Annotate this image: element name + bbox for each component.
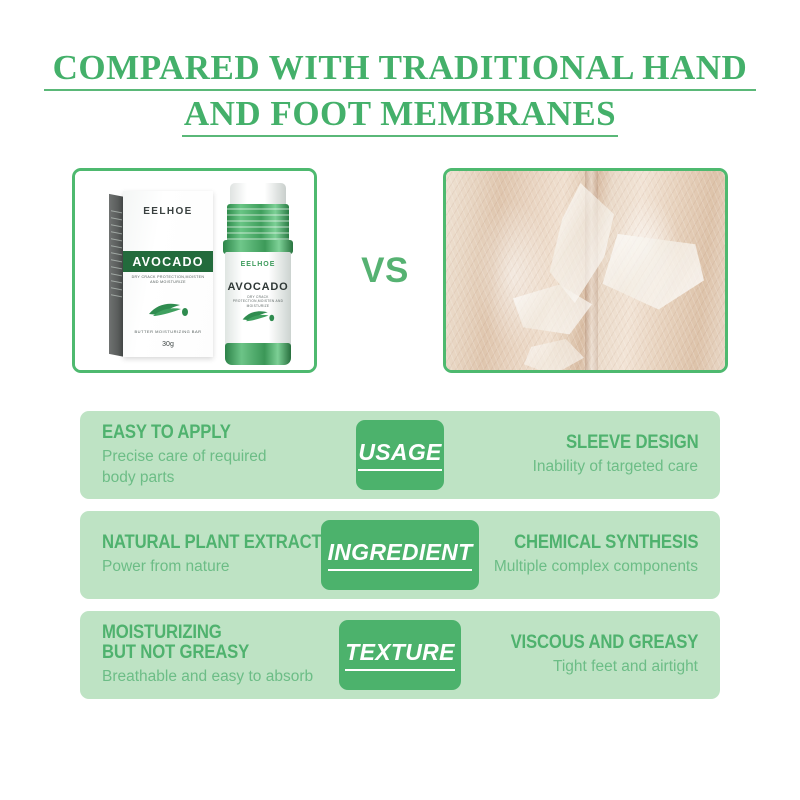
row-left-description: Power from nature [102,556,230,577]
comparison-row-usage: EASY TO APPLY Precise care of required b… [80,411,720,499]
leaf-icon [147,301,189,322]
carton-brand-name: EELHOE [123,206,213,217]
row-left-column: EASY TO APPLY Precise care of required b… [102,411,352,499]
row-badge-label: USAGE [358,439,441,471]
row-left-column: NATURAL PLANT EXTRACT Power from nature [102,511,352,599]
carton-product-band: AVOCADO [123,251,213,272]
stick-base [225,343,291,365]
carton-front-panel: EELHOE AVOCADO DRY CRACK PROTECTION,MOIS… [123,191,213,357]
row-left-column: MOISTURIZING BUT NOT GREASY Breathable a… [102,611,352,699]
carton-tagline: BUTTER MOISTURIZING BAR [123,329,213,334]
comparison-image-strip: EELHOE AVOCADO DRY CRACK PROTECTION,MOIS… [0,168,800,373]
row-right-description: Multiple complex components [494,556,698,577]
product-stick: EELHOE AVOCADO DRY CRACK PROTECTION,MOIS… [221,183,295,365]
vs-label: VS [330,168,440,373]
foot-membrane-image-frame [443,168,728,373]
product-image-frame: EELHOE AVOCADO DRY CRACK PROTECTION,MOIS… [72,168,317,373]
row-badge-usage: USAGE [356,420,444,490]
carton-subtitle: DRY CRACK PROTECTION,MOISTEN AND MOISTUR… [129,275,207,285]
comparison-row-texture: MOISTURIZING BUT NOT GREASY Breathable a… [80,611,720,699]
page-title: COMPARED WITH TRADITIONAL HAND AND FOOT … [0,48,800,137]
carton-side-text-lines [111,210,122,332]
row-right-column: CHEMICAL SYNTHESIS Multiple complex comp… [438,511,698,599]
page-title-line-2: AND FOOT MEMBRANES [182,94,618,137]
row-right-heading: SLEEVE DESIGN [566,433,698,453]
row-right-description: Tight feet and airtight [553,656,698,677]
row-left-heading: MOISTURIZING BUT NOT GREASY [102,623,249,663]
carton-product-name: AVOCADO [132,255,203,269]
infographic-page: COMPARED WITH TRADITIONAL HAND AND FOOT … [0,0,800,800]
product-photo: EELHOE AVOCADO DRY CRACK PROTECTION,MOIS… [75,171,314,370]
row-right-heading: VISCOUS AND GREASY [510,633,698,653]
row-left-heading: NATURAL PLANT EXTRACT [102,533,322,553]
comparison-rows: EASY TO APPLY Precise care of required b… [80,411,720,711]
stick-product-name: AVOCADO [221,281,295,293]
leaf-icon [241,309,275,327]
foot-membrane-photo [446,171,725,370]
row-right-heading: CHEMICAL SYNTHESIS [514,533,698,553]
row-left-description: Breathable and easy to absorb [102,666,313,687]
carton-net-weight: 30g [123,341,213,348]
page-title-line-1: COMPARED WITH TRADITIONAL HAND [44,48,756,91]
stick-subtitle: DRY CRACK PROTECTION,MOISTEN AND MOISTUR… [231,295,285,308]
product-carton: EELHOE AVOCADO DRY CRACK PROTECTION,MOIS… [109,191,213,361]
stick-cap [230,183,286,205]
stick-brand-name: EELHOE [221,261,295,268]
row-left-description: Precise care of required body parts [102,446,267,488]
row-right-column: VISCOUS AND GREASY Tight feet and airtig… [438,611,698,699]
row-right-column: SLEEVE DESIGN Inability of targeted care [438,411,698,499]
row-left-heading: EASY TO APPLY [102,423,231,443]
row-right-description: Inability of targeted care [533,456,698,477]
stick-thread-rings [227,204,289,242]
comparison-row-ingredient: NATURAL PLANT EXTRACT Power from nature … [80,511,720,599]
